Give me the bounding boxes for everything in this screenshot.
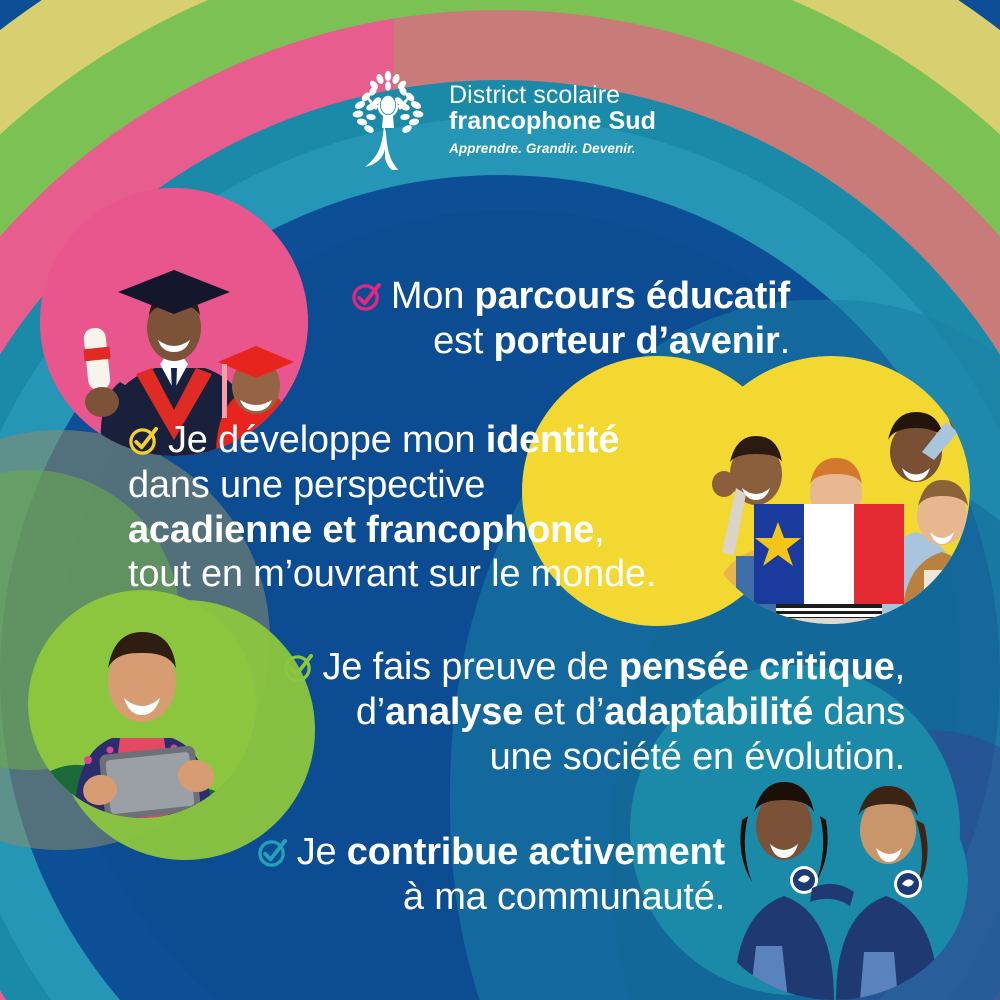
brand-logo-text: District scolaire francophone Sud Appren… xyxy=(449,82,656,156)
brand-tagline: Apprendre. Grandir. Devenir. xyxy=(449,142,656,156)
statement-identite-acadienne: Je développe mon identitédans une perspe… xyxy=(128,418,788,597)
statement-contribue-communaute: Je contribue activementà ma communauté. xyxy=(180,830,725,920)
check-circle-icon xyxy=(128,422,159,453)
check-circle-icon xyxy=(257,834,288,865)
statement-line: une société en évolution. xyxy=(245,735,905,780)
brand-name-line-1: District scolaire xyxy=(449,82,656,109)
statement-line: Je contribue activement xyxy=(180,830,725,875)
statement-line: d’analyse et d’adaptabilité dans xyxy=(245,690,905,735)
brand-name-line-2: francophone Sud xyxy=(449,108,656,135)
tree-person-logo-icon xyxy=(345,68,431,170)
statement-line: est porteur d’avenir. xyxy=(170,319,790,364)
statement-line: tout en m’ouvrant sur le monde. xyxy=(128,552,788,597)
statement-line: dans une perspective xyxy=(128,463,788,508)
check-circle-icon xyxy=(283,649,314,680)
statement-pensee-critique: Je fais preuve de pensée critique,d’anal… xyxy=(245,645,905,779)
statement-line: à ma communauté. xyxy=(180,875,725,920)
poster: District scolaire francophone Sud Appren… xyxy=(0,0,1000,1000)
statement-line: acadienne et francophone, xyxy=(128,508,788,553)
statement-line: Je fais preuve de pensée critique, xyxy=(245,645,905,690)
statement-line: Je développe mon identité xyxy=(128,418,788,463)
statement-line: Mon parcours éducatif xyxy=(170,274,790,319)
statement-parcours-educatif: Mon parcours éducatifest porteur d’aveni… xyxy=(170,274,790,364)
check-circle-icon xyxy=(351,278,382,309)
brand-logo-block: District scolaire francophone Sud Appren… xyxy=(345,68,656,170)
